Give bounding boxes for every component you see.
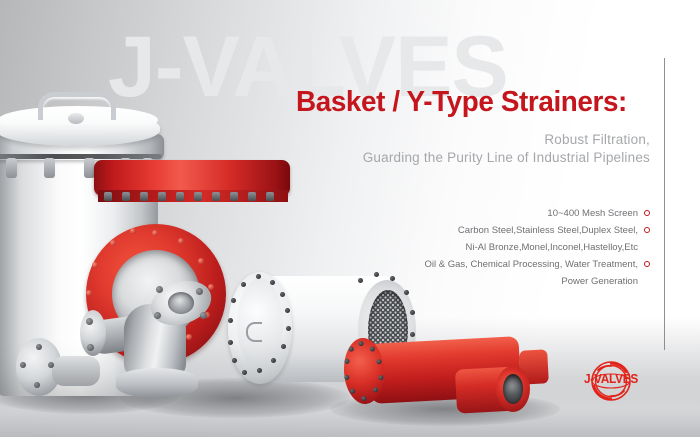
bullet-ring-icon-hidden	[644, 278, 650, 284]
spec-item: 10~400 Mesh Screen	[320, 206, 650, 220]
vertical-divider	[664, 58, 665, 350]
small-neck	[52, 356, 100, 386]
vessel-gasket	[0, 154, 162, 159]
subtitle-line-2: Guarding the Purity Line of Industrial P…	[300, 149, 650, 167]
spec-label: Power Generation	[561, 275, 638, 288]
stainless-flange-part	[16, 332, 108, 404]
page-title: Basket / Y-Type Strainers:	[296, 85, 638, 119]
vessel-bolt	[44, 158, 55, 178]
brand-logo[interactable]: J-VALVES	[578, 358, 644, 404]
spec-label: 10~400 Mesh Screen	[547, 207, 638, 220]
spec-item: Carbon Steel,Stainless Steel,Duplex Stee…	[320, 223, 650, 237]
subtitle-line-1: Robust Filtration,	[300, 131, 650, 149]
spec-label: Oil & Gas, Chemical Processing, Water Tr…	[425, 258, 638, 271]
red-vessel-bolt-band	[98, 190, 288, 202]
bullet-ring-icon	[644, 227, 650, 233]
vessel-bolt	[6, 158, 17, 178]
spec-item: Power Generation	[320, 274, 650, 288]
spec-label: Carbon Steel,Stainless Steel,Duplex Stee…	[458, 224, 638, 237]
strainer-horizontal-red	[336, 326, 552, 418]
spec-label: Ni-Al Bronze,Monel,Inconel,Hastelloy,Etc	[466, 241, 638, 254]
lifting-hook	[246, 322, 262, 342]
bullet-ring-icon-hidden	[644, 244, 650, 250]
spec-item: Ni-Al Bronze,Monel,Inconel,Hastelloy,Etc	[320, 240, 650, 254]
product-banner: J-VALVES	[0, 0, 700, 437]
subtitle: Robust Filtration, Guarding the Purity L…	[300, 131, 650, 167]
spec-list: 10~400 Mesh Screen Carbon Steel,Stainles…	[320, 206, 650, 291]
y-strainer-top-bore	[168, 292, 194, 314]
y-strainer-base-flange	[116, 368, 198, 398]
bullet-ring-icon	[644, 210, 650, 216]
vessel-knob	[68, 113, 84, 124]
logo-text: J-VALVES	[580, 372, 643, 386]
spec-item: Oil & Gas, Chemical Processing, Water Tr…	[320, 257, 650, 271]
bullet-ring-icon	[644, 261, 650, 267]
red-horiz-nozzle-bore	[503, 374, 523, 404]
